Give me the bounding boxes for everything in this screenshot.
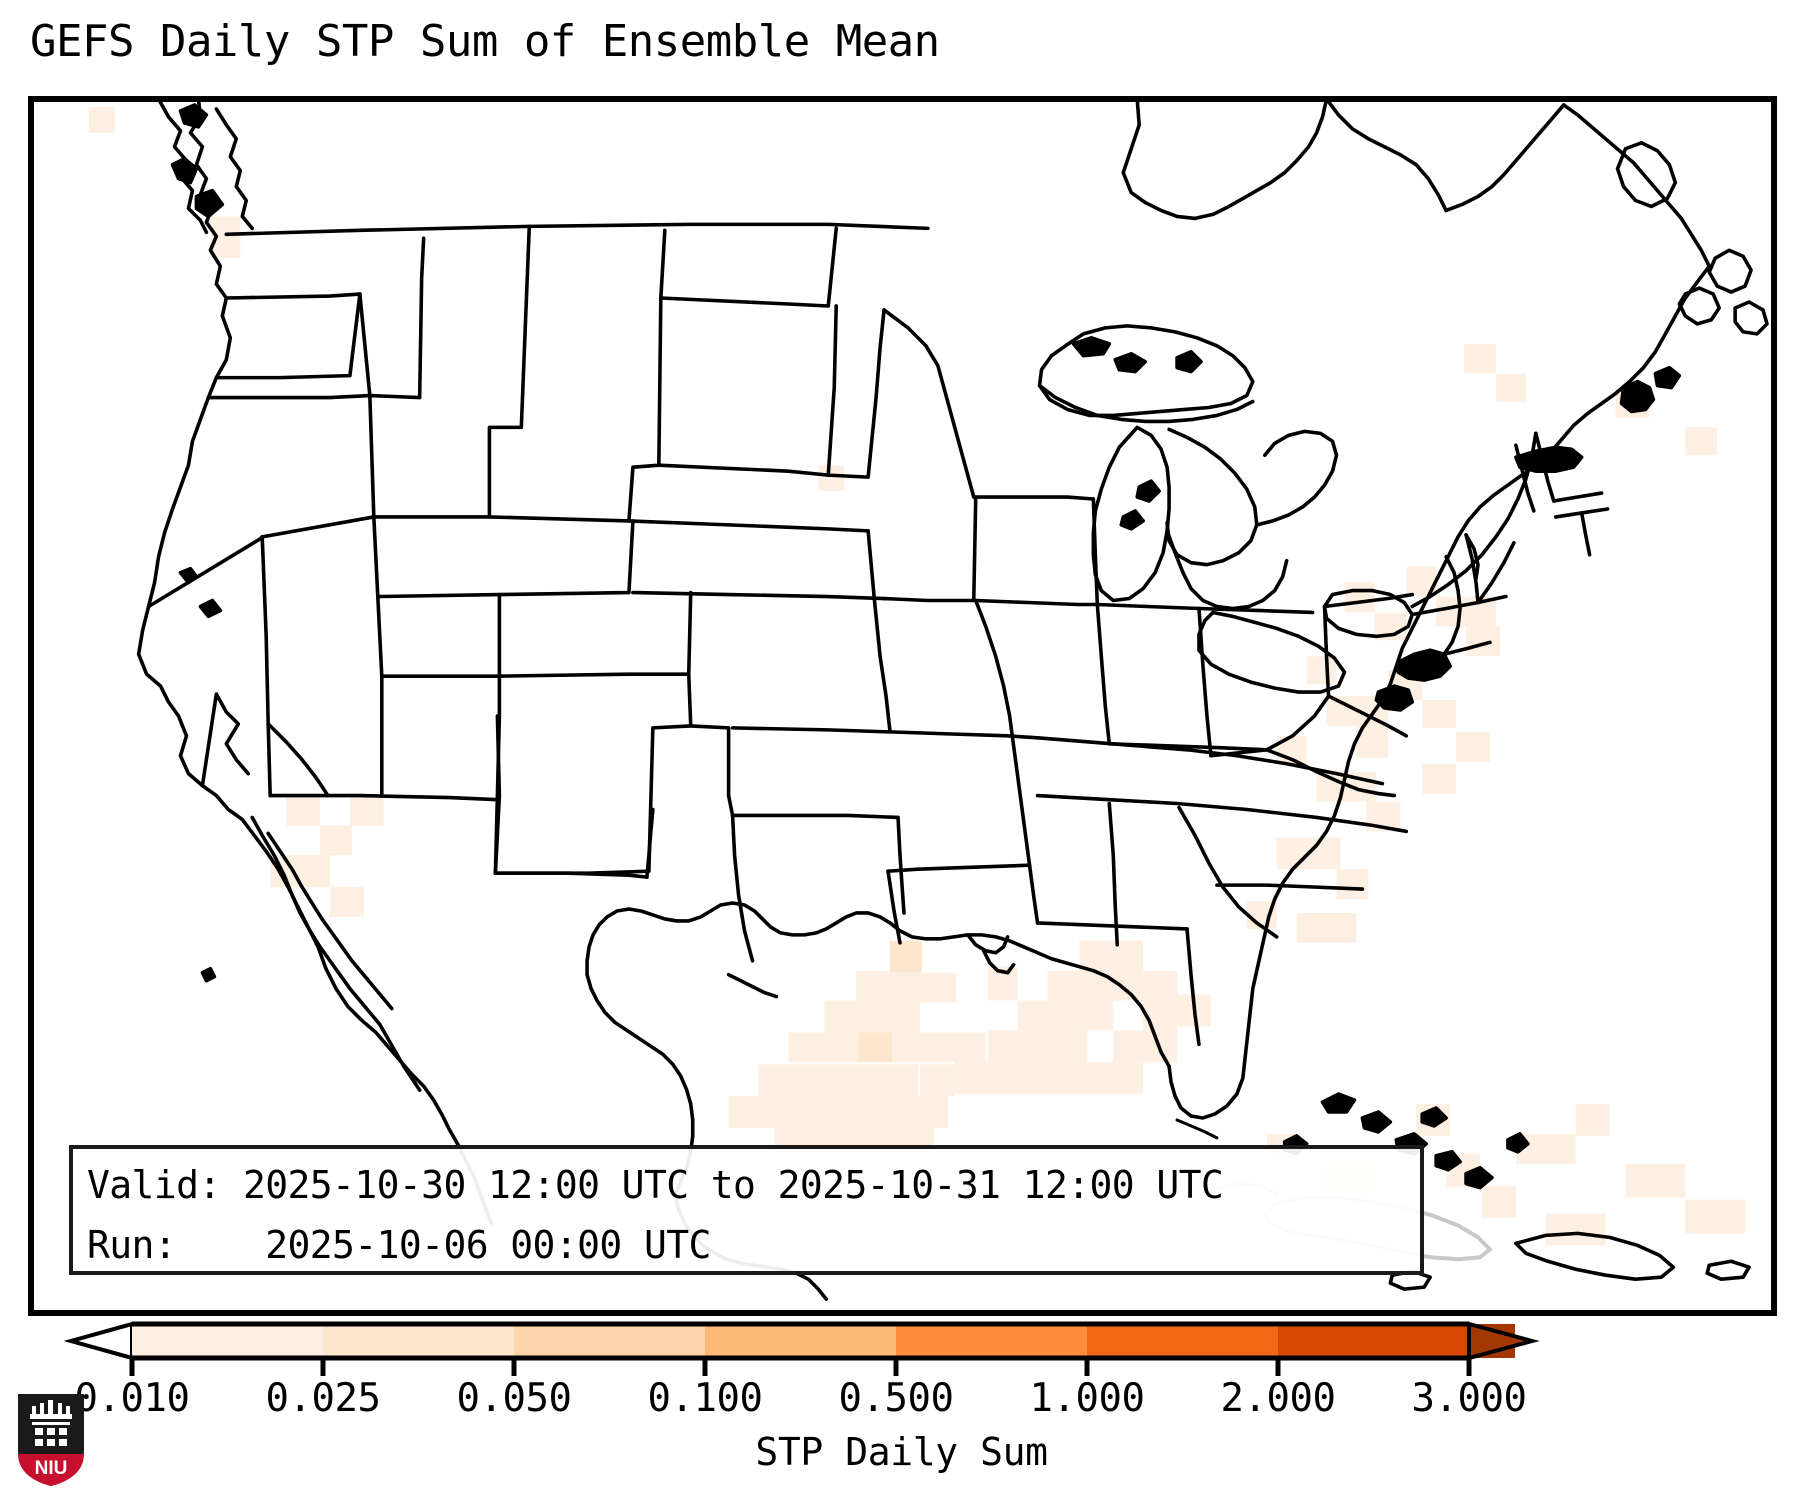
colorbar-band-4 bbox=[705, 1324, 896, 1358]
colorbar-tick-label-0: 0.010 bbox=[75, 1375, 190, 1423]
colorbar-tick-label-3: 0.100 bbox=[648, 1375, 763, 1423]
colorbar-tick-label-7: 3.000 bbox=[1412, 1375, 1527, 1423]
niu-logo: NIU bbox=[14, 1392, 88, 1488]
colorbar-tick-label-5: 1.000 bbox=[1030, 1375, 1145, 1423]
colorbar-axis-label: STP Daily Sum bbox=[0, 1428, 1803, 1476]
colorbar-tick-labels: 0.010 0.025 0.050 0.100 0.500 1.000 2.00… bbox=[0, 1375, 1803, 1427]
colorbar-ticks bbox=[132, 1358, 1469, 1376]
colorbar-tick-label-1: 0.025 bbox=[266, 1375, 381, 1423]
map-geography-layer bbox=[139, 99, 1767, 1299]
colorbar-tick-label-2: 0.050 bbox=[457, 1375, 572, 1423]
map-canvas bbox=[31, 99, 1774, 1313]
colorbar[interactable] bbox=[0, 1318, 1803, 1378]
niu-logo-text: NIU bbox=[35, 1458, 68, 1479]
colorbar-band-6 bbox=[1087, 1324, 1278, 1358]
colorbar-band-7 bbox=[1278, 1324, 1469, 1358]
colorbar-band-2 bbox=[323, 1324, 514, 1358]
forecast-info-box: Valid: 2025-10-30 12:00 UTC to 2025-10-3… bbox=[69, 1145, 1424, 1275]
page-title: GEFS Daily STP Sum of Ensemble Mean bbox=[30, 14, 1630, 70]
colorbar-tick-label-6: 2.000 bbox=[1221, 1375, 1336, 1423]
valid-time-text: Valid: 2025-10-30 12:00 UTC to 2025-10-3… bbox=[87, 1155, 1406, 1215]
run-time-text: Run: 2025-10-06 00:00 UTC bbox=[87, 1215, 1406, 1275]
colorbar-band-3 bbox=[514, 1324, 705, 1358]
map-plot-area: Valid: 2025-10-30 12:00 UTC to 2025-10-3… bbox=[28, 96, 1777, 1316]
colorbar-band-1 bbox=[132, 1324, 323, 1358]
colorbar-band-5 bbox=[896, 1324, 1087, 1358]
colorbar-tick-label-4: 0.500 bbox=[839, 1375, 954, 1423]
stp-shading-layer bbox=[89, 107, 1745, 1245]
colorbar-svg[interactable] bbox=[0, 1318, 1803, 1378]
